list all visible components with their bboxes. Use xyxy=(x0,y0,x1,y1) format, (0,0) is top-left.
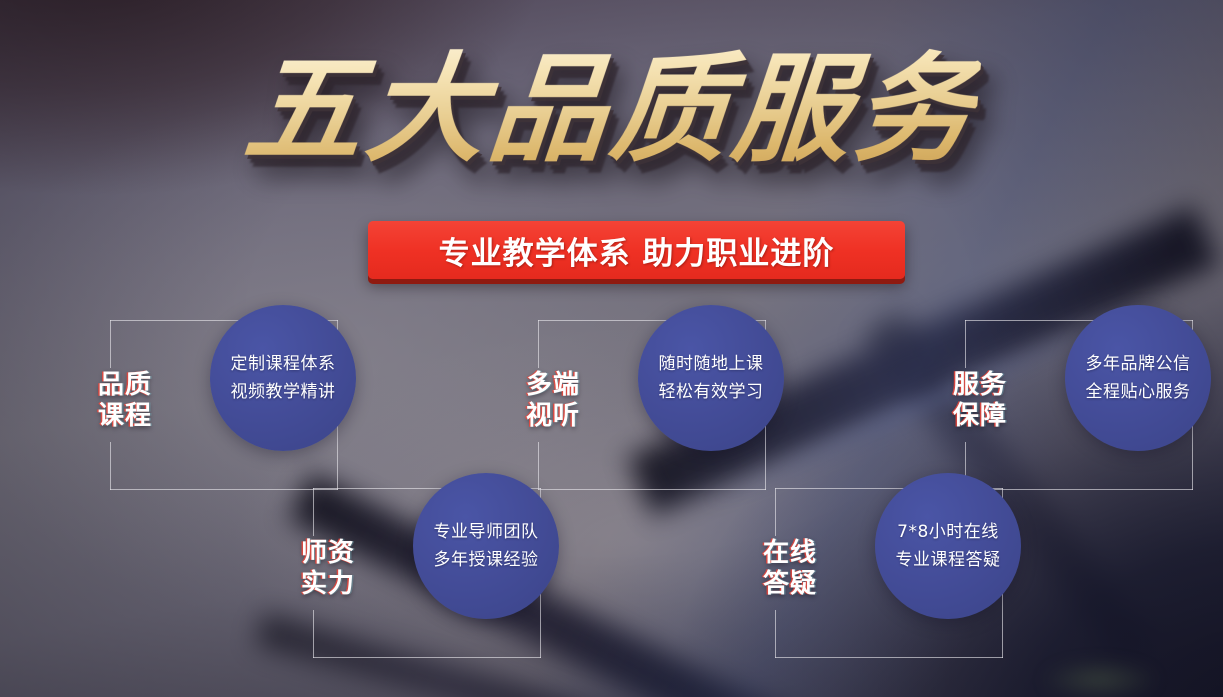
feature-label-line-1: 多端 xyxy=(510,370,596,401)
bracket-edge-left-top xyxy=(110,320,111,368)
feature-label: 在线 答疑 xyxy=(747,538,833,600)
bracket-edge-left-top xyxy=(775,488,776,536)
feature-label-line-1: 品质 xyxy=(82,370,168,401)
feature-label-line-2: 答疑 xyxy=(747,569,833,600)
headline-text: 五大品质服务 xyxy=(239,34,984,184)
bracket-edge-left-bottom xyxy=(538,442,539,490)
feature-block-online-qa: 在线 答疑 7*8小时在线 专业课程答疑 xyxy=(775,488,1065,663)
feature-label-line-2: 保障 xyxy=(937,401,1023,432)
feature-bullet-1: 多年品牌公信 xyxy=(1086,355,1191,374)
feature-bullet-2: 多年授课经验 xyxy=(434,551,539,570)
feature-block-quality-course: 品质 课程 定制课程体系 视频教学精讲 xyxy=(110,320,400,495)
feature-label-line-1: 在线 xyxy=(747,538,833,569)
feature-bullet-2: 全程贴心服务 xyxy=(1086,383,1191,402)
bracket-edge-bottom xyxy=(775,657,1003,658)
bracket-edge-bottom xyxy=(313,657,541,658)
feature-label: 师资 实力 xyxy=(285,538,371,600)
promo-poster: 五大品质服务 专业教学体系 助力职业进阶 品质 课程 定制课程体系 视频教学精讲 xyxy=(0,0,1223,697)
feature-block-service-guarantee: 服务 保障 多年品牌公信 全程贴心服务 xyxy=(965,320,1223,495)
feature-label-line-2: 实力 xyxy=(285,569,371,600)
bracket-edge-left-bottom xyxy=(110,442,111,490)
feature-circle: 定制课程体系 视频教学精讲 xyxy=(210,305,356,451)
feature-bullet-2: 视频教学精讲 xyxy=(231,383,336,402)
feature-bullet-1: 专业导师团队 xyxy=(434,523,539,542)
feature-bullet-2: 专业课程答疑 xyxy=(896,551,1001,570)
subtitle-banner-text: 专业教学体系 助力职业进阶 xyxy=(439,228,835,273)
bracket-edge-left-top xyxy=(538,320,539,368)
feature-label: 服务 保障 xyxy=(937,370,1023,432)
bracket-edge-left-bottom xyxy=(313,610,314,658)
feature-label: 多端 视听 xyxy=(510,370,596,432)
subtitle-banner: 专业教学体系 助力职业进阶 xyxy=(368,221,905,279)
feature-label: 品质 课程 xyxy=(82,370,168,432)
feature-bullet-1: 7*8小时在线 xyxy=(897,523,999,542)
bracket-edge-left-bottom xyxy=(775,610,776,658)
feature-circle: 7*8小时在线 专业课程答疑 xyxy=(875,473,1021,619)
feature-circle: 多年品牌公信 全程贴心服务 xyxy=(1065,305,1211,451)
bracket-edge-left-top xyxy=(313,488,314,536)
feature-circle: 随时随地上课 轻松有效学习 xyxy=(638,305,784,451)
feature-circle: 专业导师团队 多年授课经验 xyxy=(413,473,559,619)
feature-bullet-1: 随时随地上课 xyxy=(659,355,764,374)
feature-label-line-1: 服务 xyxy=(937,370,1023,401)
feature-label-line-2: 课程 xyxy=(82,401,168,432)
feature-label-line-2: 视听 xyxy=(510,401,596,432)
feature-bullet-2: 轻松有效学习 xyxy=(659,383,764,402)
background-green-glint xyxy=(1040,660,1160,697)
bracket-edge-left-top xyxy=(965,320,966,368)
feature-block-teacher-strength: 师资 实力 专业导师团队 多年授课经验 xyxy=(313,488,603,663)
feature-block-multi-device: 多端 视听 随时随地上课 轻松有效学习 xyxy=(538,320,828,495)
feature-label-line-1: 师资 xyxy=(285,538,371,569)
poster-headline: 五大品质服务 xyxy=(0,34,1223,184)
feature-bullet-1: 定制课程体系 xyxy=(231,355,336,374)
bracket-edge-bottom xyxy=(110,489,338,490)
